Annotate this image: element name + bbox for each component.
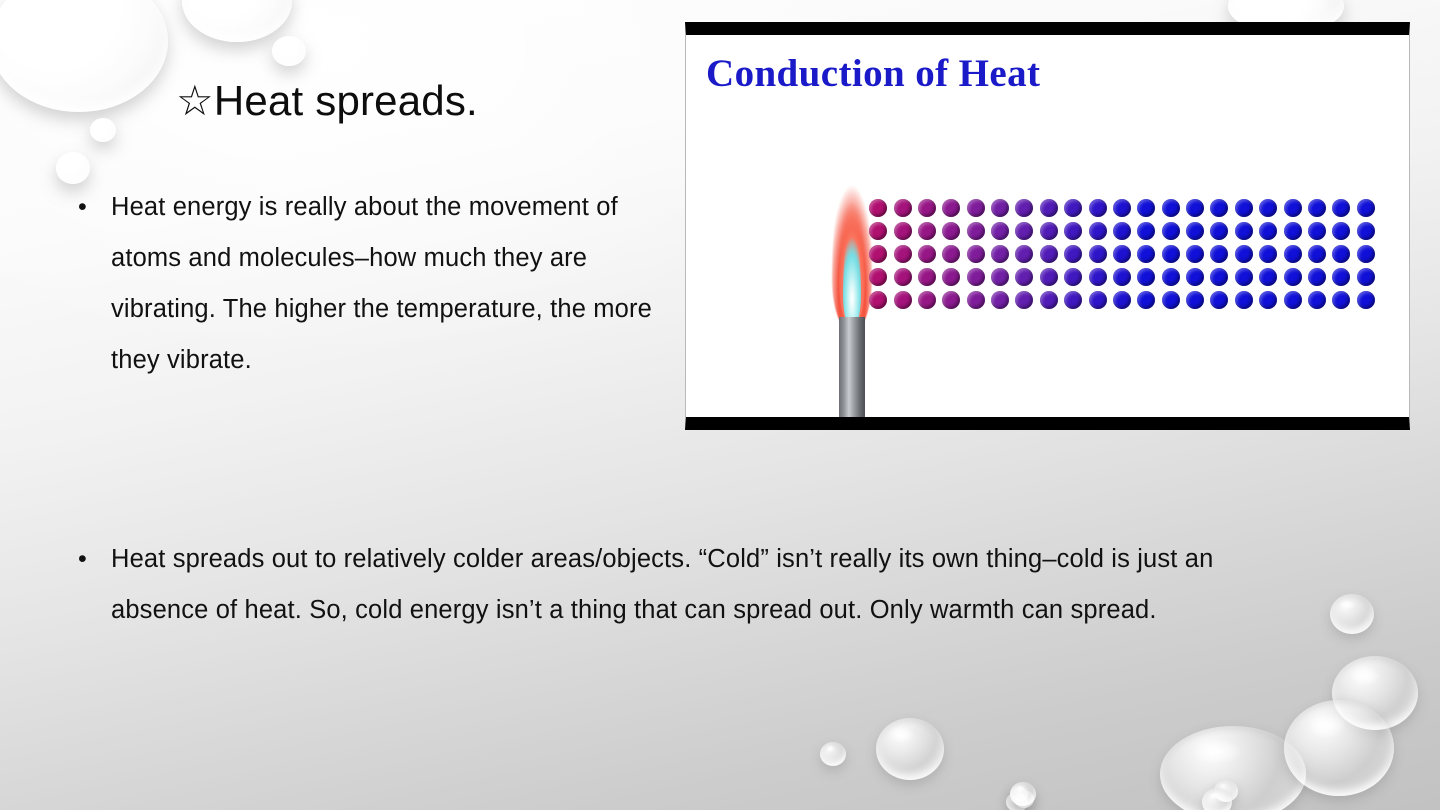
molecule-dot	[1186, 222, 1204, 240]
molecule-row	[866, 196, 1378, 219]
molecule-dot	[942, 291, 960, 309]
molecule-dot	[869, 222, 887, 240]
molecule-dot	[1235, 245, 1253, 263]
droplet	[1006, 792, 1028, 810]
molecule-row	[866, 266, 1378, 289]
molecule-dot	[918, 222, 936, 240]
molecule-dot	[991, 222, 1009, 240]
molecule-dot	[1089, 222, 1107, 240]
molecule-dot	[1332, 199, 1350, 217]
molecule-dot	[967, 291, 985, 309]
bullet-text: Heat energy is really about the movement…	[111, 182, 658, 386]
molecule-dot	[1186, 199, 1204, 217]
molecule-dot	[1308, 291, 1326, 309]
molecule-dot	[1284, 245, 1302, 263]
molecule-dot	[1332, 291, 1350, 309]
molecule-dot	[1137, 199, 1155, 217]
molecule-dot	[1137, 245, 1155, 263]
molecule-dot	[991, 199, 1009, 217]
droplet	[90, 118, 116, 142]
molecule-dot	[967, 199, 985, 217]
molecule-dot	[1162, 245, 1180, 263]
molecule-dot	[1210, 291, 1228, 309]
molecule-dot	[942, 222, 960, 240]
molecule-dot	[1210, 199, 1228, 217]
droplet	[1332, 656, 1418, 730]
molecule-dot	[1113, 199, 1131, 217]
molecule-dot	[942, 268, 960, 286]
molecule-dot	[894, 199, 912, 217]
molecule-dot	[1308, 222, 1326, 240]
droplet	[182, 0, 292, 42]
bullet-text: Heat spreads out to relatively colder ar…	[111, 534, 1318, 636]
molecule-dot	[1308, 199, 1326, 217]
molecule-dot	[1186, 291, 1204, 309]
molecule-dot	[1284, 222, 1302, 240]
molecule-dot	[1113, 268, 1131, 286]
bullet-marker: •	[78, 534, 111, 585]
droplet	[0, 0, 168, 112]
molecule-row	[866, 242, 1378, 265]
molecule-dot	[942, 245, 960, 263]
molecule-dot	[1040, 245, 1058, 263]
molecule-dot	[1259, 268, 1277, 286]
droplet	[1284, 700, 1394, 796]
molecule-dot	[967, 245, 985, 263]
molecule-dot	[1186, 268, 1204, 286]
molecule-dot	[869, 268, 887, 286]
molecule-dot	[991, 291, 1009, 309]
molecule-dot	[1308, 268, 1326, 286]
molecule-dot	[1235, 199, 1253, 217]
molecule-dot	[1040, 222, 1058, 240]
molecule-dot	[1162, 268, 1180, 286]
molecule-dot	[1137, 222, 1155, 240]
molecule-dot	[1357, 199, 1375, 217]
molecule-dot	[1064, 222, 1082, 240]
droplet	[1010, 786, 1028, 802]
molecule-dot	[1357, 291, 1375, 309]
molecule-dot	[967, 222, 985, 240]
molecule-grid	[866, 196, 1378, 312]
molecule-dot	[1113, 222, 1131, 240]
molecule-dot	[1015, 291, 1033, 309]
molecule-dot	[894, 222, 912, 240]
molecule-dot	[1162, 222, 1180, 240]
molecule-dot	[1308, 245, 1326, 263]
molecule-dot	[1259, 199, 1277, 217]
molecule-dot	[1040, 199, 1058, 217]
molecule-dot	[1040, 291, 1058, 309]
slide-canvas: ☆Heat spreads. • Heat energy is really a…	[0, 0, 1440, 810]
molecule-dot	[1064, 199, 1082, 217]
molecule-dot	[1186, 245, 1204, 263]
molecule-dot	[1064, 245, 1082, 263]
molecule-dot	[1015, 268, 1033, 286]
molecule-dot	[1284, 268, 1302, 286]
molecule-dot	[918, 268, 936, 286]
molecule-dot	[1210, 268, 1228, 286]
page-title: ☆Heat spreads.	[176, 76, 478, 125]
molecule-row	[866, 289, 1378, 312]
droplet	[876, 718, 944, 780]
molecule-dot	[1137, 291, 1155, 309]
molecule-dot	[869, 199, 887, 217]
molecule-dot	[918, 199, 936, 217]
molecule-row	[866, 219, 1378, 242]
molecule-dot	[1089, 268, 1107, 286]
molecule-dot	[1089, 291, 1107, 309]
molecule-dot	[1259, 245, 1277, 263]
molecule-dot	[1089, 199, 1107, 217]
molecule-dot	[942, 199, 960, 217]
molecule-dot	[1259, 291, 1277, 309]
droplet	[1014, 790, 1034, 808]
droplet	[1010, 782, 1036, 806]
molecule-dot	[1357, 268, 1375, 286]
molecule-dot	[1040, 268, 1058, 286]
molecule-dot	[1284, 199, 1302, 217]
figure-caption: Conduction of Heat	[706, 51, 1040, 96]
molecule-dot	[1357, 245, 1375, 263]
molecule-dot	[1235, 291, 1253, 309]
droplet	[1160, 726, 1306, 810]
molecule-dot	[991, 268, 1009, 286]
molecule-dot	[991, 245, 1009, 263]
droplet	[1330, 594, 1374, 634]
molecule-dot	[1137, 268, 1155, 286]
molecule-dot	[1064, 268, 1082, 286]
molecule-dot	[894, 245, 912, 263]
molecule-dot	[1332, 222, 1350, 240]
molecule-dot	[869, 245, 887, 263]
molecule-dot	[1113, 245, 1131, 263]
molecule-dot	[1210, 222, 1228, 240]
molecule-dot	[1357, 222, 1375, 240]
molecule-dot	[967, 268, 985, 286]
burner-tube	[839, 317, 865, 427]
molecule-dot	[918, 245, 936, 263]
molecule-dot	[918, 291, 936, 309]
molecule-dot	[1015, 222, 1033, 240]
molecule-dot	[1015, 199, 1033, 217]
molecule-dot	[1162, 291, 1180, 309]
molecule-dot	[1332, 268, 1350, 286]
molecule-dot	[1284, 291, 1302, 309]
molecule-dot	[1064, 291, 1082, 309]
droplet	[820, 742, 846, 766]
molecule-dot	[1113, 291, 1131, 309]
molecule-dot	[869, 291, 887, 309]
molecule-dot	[894, 291, 912, 309]
conduction-figure: Conduction of Heat	[685, 22, 1410, 430]
molecule-dot	[1015, 245, 1033, 263]
molecule-dot	[894, 268, 912, 286]
molecule-dot	[1259, 222, 1277, 240]
molecule-dot	[1089, 245, 1107, 263]
molecule-dot	[1235, 268, 1253, 286]
droplet	[272, 36, 306, 66]
bullet-item: • Heat spreads out to relatively colder …	[78, 534, 1318, 636]
molecule-dot	[1162, 199, 1180, 217]
droplet	[56, 152, 90, 184]
molecule-dot	[1332, 245, 1350, 263]
bullet-marker: •	[78, 182, 111, 233]
droplet	[1202, 788, 1232, 810]
bullet-item: • Heat energy is really about the moveme…	[78, 182, 658, 386]
molecule-dot	[1235, 222, 1253, 240]
molecule-dot	[1210, 245, 1228, 263]
droplet	[1214, 780, 1238, 802]
